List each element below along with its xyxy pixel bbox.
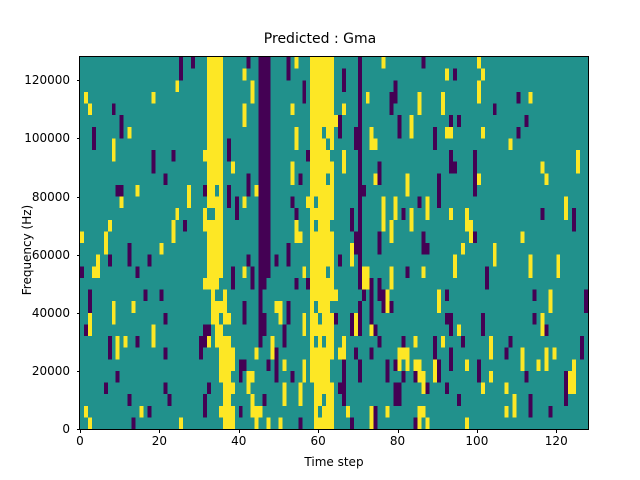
x-tick-mark [80, 429, 81, 433]
x-tick-label: 120 [526, 434, 586, 448]
x-tick-mark [398, 429, 399, 433]
x-tick-label: 60 [288, 434, 348, 448]
y-tick-mark [77, 80, 81, 81]
heatmap-image [80, 57, 588, 429]
x-tick-label: 80 [368, 434, 428, 448]
x-tick-label: 40 [209, 434, 269, 448]
y-tick-label: 120000 [0, 73, 70, 87]
y-tick-mark [77, 138, 81, 139]
y-tick-mark [77, 255, 81, 256]
x-tick-mark [239, 429, 240, 433]
x-tick-mark [318, 429, 319, 433]
x-tick-label: 0 [50, 434, 110, 448]
page-title: Predicted : Gma [0, 31, 640, 48]
y-tick-label: 20000 [0, 364, 70, 378]
y-axis-label: Frequency (Hz) [20, 140, 34, 360]
x-tick-label: 20 [129, 434, 189, 448]
matplotlib-figure: Predicted : Gma 020406080100120 02000040… [0, 0, 640, 480]
x-tick-mark [159, 429, 160, 433]
y-tick-mark [77, 371, 81, 372]
x-tick-mark [477, 429, 478, 433]
y-tick-label: 80000 [0, 190, 70, 204]
x-axis-label: Time step [80, 455, 588, 469]
y-tick-mark [77, 197, 81, 198]
x-tick-label: 100 [447, 434, 507, 448]
y-tick-mark [77, 313, 81, 314]
y-tick-label: 100000 [0, 131, 70, 145]
y-tick-label: 0 [0, 422, 70, 436]
y-tick-mark [77, 429, 81, 430]
heatmap-axes [79, 56, 589, 430]
y-tick-label: 40000 [0, 306, 70, 320]
y-tick-label: 60000 [0, 248, 70, 262]
x-tick-mark [556, 429, 557, 433]
